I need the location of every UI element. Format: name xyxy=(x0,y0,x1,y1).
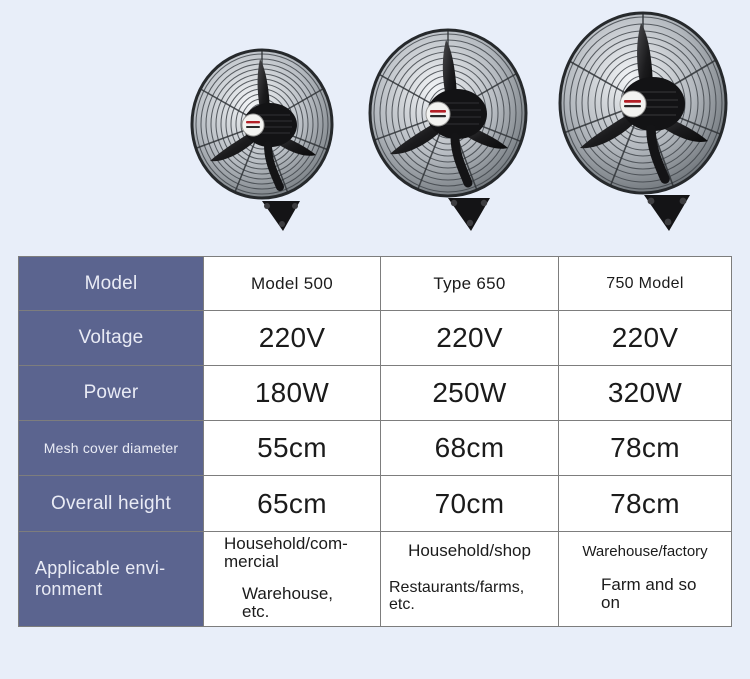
row-label-voltage: Voltage xyxy=(19,311,204,366)
table-row-applicable-environment: Applicable envi- ronment Household/com-m… xyxy=(19,532,732,627)
cell-voltage-650: 220V xyxy=(381,311,559,366)
product-image-fan-650 xyxy=(366,21,540,231)
cell-height-650: 70cm xyxy=(381,476,559,532)
table-row-voltage: Voltage 220V 220V 220V xyxy=(19,311,732,366)
table-row-power: Power 180W 250W 320W xyxy=(19,366,732,421)
product-image-strip xyxy=(0,0,750,245)
environment-secondary-750: Farm and so on xyxy=(601,576,711,612)
cell-voltage-500: 220V xyxy=(204,311,381,366)
environment-primary-750: Warehouse/factory xyxy=(582,544,707,560)
row-label-applicable-environment: Applicable envi- ronment xyxy=(19,532,204,627)
product-spec-page: Model Model 500 Type 650 750 Model Volta… xyxy=(0,0,750,679)
cell-height-500: 65cm xyxy=(204,476,381,532)
product-image-fan-750 xyxy=(556,5,738,231)
cell-model-650: Type 650 xyxy=(381,257,559,311)
cell-height-750: 78cm xyxy=(559,476,732,532)
cell-power-650: 250W xyxy=(381,366,559,421)
row-label-overall-height: Overall height xyxy=(19,476,204,532)
cell-power-750: 320W xyxy=(559,366,732,421)
cell-model-500: Model 500 xyxy=(204,257,381,311)
cell-environment-500: Household/com-mercial Warehouse, etc. xyxy=(204,532,381,627)
product-image-fan-500 xyxy=(188,41,346,231)
cell-environment-650: Household/shop Restaurants/farms, etc. xyxy=(381,532,559,627)
cell-mesh-750: 78cm xyxy=(559,421,732,476)
environment-primary-650: Household/shop xyxy=(408,542,531,560)
environment-secondary-650: Restaurants/farms, etc. xyxy=(389,580,550,614)
table-row-overall-height: Overall height 65cm 70cm 78cm xyxy=(19,476,732,532)
row-label-model: Model xyxy=(19,257,204,311)
row-label-mesh-cover-diameter: Mesh cover diameter xyxy=(19,421,204,476)
table-row-model: Model Model 500 Type 650 750 Model xyxy=(19,257,732,311)
cell-power-500: 180W xyxy=(204,366,381,421)
cell-model-750: 750 Model xyxy=(559,257,732,311)
cell-mesh-500: 55cm xyxy=(204,421,381,476)
table-row-mesh-cover-diameter: Mesh cover diameter 55cm 68cm 78cm xyxy=(19,421,732,476)
cell-mesh-650: 68cm xyxy=(381,421,559,476)
row-label-power: Power xyxy=(19,366,204,421)
cell-environment-750: Warehouse/factory Farm and so on xyxy=(559,532,732,627)
environment-primary-500: Household/com-mercial xyxy=(224,535,364,571)
specification-table: Model Model 500 Type 650 750 Model Volta… xyxy=(18,256,732,627)
environment-secondary-500: Warehouse, etc. xyxy=(224,585,352,621)
cell-voltage-750: 220V xyxy=(559,311,732,366)
